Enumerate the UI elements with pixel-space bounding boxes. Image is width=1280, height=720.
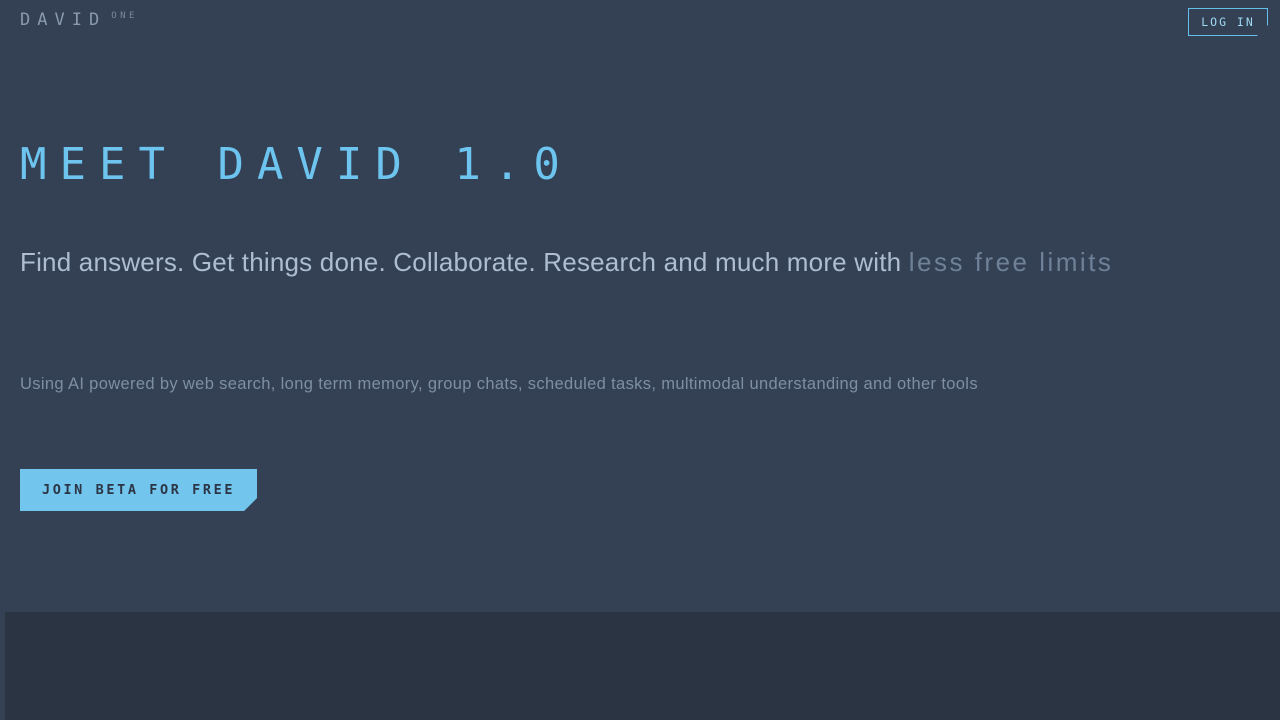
hero-section: DAVID ONE LOG IN MEET DAVID 1.0 Find ans… xyxy=(0,0,1280,612)
subheadline-highlight-text: less free limits xyxy=(909,247,1114,277)
hero-subheadline: Find answers. Get things done. Collabora… xyxy=(20,238,1230,286)
top-navigation-bar: DAVID ONE LOG IN xyxy=(0,0,1280,40)
page-title: MEET DAVID 1.0 xyxy=(20,136,573,194)
lower-section xyxy=(0,612,1280,720)
log-in-button[interactable]: LOG IN xyxy=(1188,8,1268,36)
hero-body-copy: Using AI powered by web search, long ter… xyxy=(20,368,1265,400)
subheadline-main-text: Find answers. Get things done. Collabora… xyxy=(20,247,909,277)
brand-name: DAVID xyxy=(20,6,106,34)
brand-superscript: ONE xyxy=(111,6,138,26)
landing-page: DAVID ONE LOG IN MEET DAVID 1.0 Find ans… xyxy=(0,0,1280,720)
brand-logo[interactable]: DAVID ONE xyxy=(20,6,138,34)
join-beta-button[interactable]: JOIN BETA FOR FREE xyxy=(20,469,257,511)
left-edge-rail xyxy=(0,612,5,720)
